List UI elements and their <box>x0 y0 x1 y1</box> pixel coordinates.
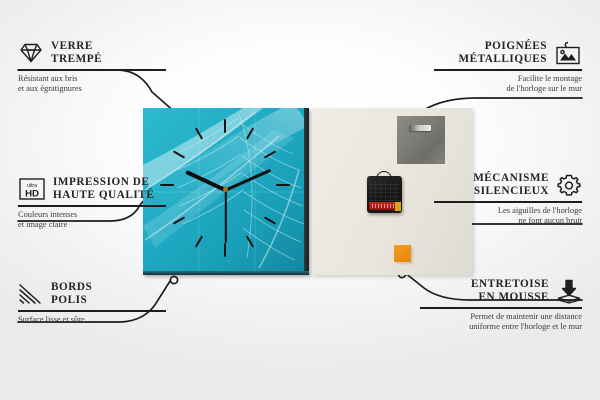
feature-verre-trempe: VERRE TREMPÉ Résistant aux bris et aux é… <box>18 40 166 95</box>
battery-plus-terminal <box>395 202 401 211</box>
clock-product-photo <box>143 108 309 275</box>
clock-bottom-edge <box>143 271 309 275</box>
clock-tick-12 <box>224 119 226 133</box>
feature-title-line2: TREMPÉ <box>51 53 102 66</box>
feature-entretoise-en-mousse: ENTRETOISE EN MOUSSE Permet de maintenir… <box>420 278 582 333</box>
feature-title: ENTRETOISE <box>471 278 549 291</box>
picture-hanger-icon <box>554 41 582 66</box>
feature-desc-line2: et image claire <box>18 220 166 230</box>
feature-rule <box>18 205 166 207</box>
feature-bords-polis: BORDS POLIS Surface lisse et sûre <box>18 281 166 325</box>
feature-desc-line2: et aux égratignures <box>18 84 166 94</box>
feature-title: IMPRESSION DE <box>53 176 154 189</box>
arrow-down-pad-icon <box>556 279 582 304</box>
clock-second-hand <box>225 190 227 243</box>
feature-title: BORDS <box>51 281 92 294</box>
feature-rule <box>434 201 582 203</box>
feature-title: POIGNÉES <box>458 40 547 53</box>
feature-desc-line1: Résistant aux bris <box>18 74 166 84</box>
feature-desc-line1: Les aiguilles de l'horloge <box>434 206 582 216</box>
ultra-hd-icon-main-text: HD <box>25 189 39 200</box>
polished-edge-icon <box>18 282 44 306</box>
feature-title: MÉCANISME <box>473 172 549 185</box>
feature-title-line2: POLIS <box>51 294 92 307</box>
feature-desc-line2: de l'horloge sur le mur <box>434 84 582 94</box>
feature-rule <box>434 69 582 71</box>
silent-clock-mechanism <box>367 176 402 213</box>
foam-spacer <box>394 245 411 262</box>
mechanism-body-texture <box>370 181 399 201</box>
feature-desc-line1: Facilite le montage <box>434 74 582 84</box>
feature-poignees-metalliques: POIGNÉES MÉTALLIQUES Facilite le montage… <box>434 40 582 95</box>
clock-center-pin <box>223 187 228 192</box>
feature-rule <box>18 69 166 71</box>
feature-desc-line2: ne font aucun bruit <box>434 216 582 226</box>
endpoint-bords-polis <box>170 276 177 283</box>
feature-rule <box>18 310 166 312</box>
feature-impression-haute-qualite: ultra HD IMPRESSION DE HAUTE QUALITÉ Cou… <box>18 176 166 231</box>
metallic-hanger-plate <box>397 116 445 164</box>
feature-desc-line1: Permet de maintenir une distance <box>420 312 582 322</box>
diamond-icon <box>18 41 44 65</box>
mechanism-hang-loop <box>376 171 392 179</box>
gear-icon <box>556 173 582 198</box>
clock-tick-3 <box>276 184 290 186</box>
mechanism-battery <box>369 202 397 210</box>
feature-title-line2: EN MOUSSE <box>471 291 549 304</box>
ultra-hd-icon: ultra HD <box>18 176 46 202</box>
feature-rule <box>420 307 582 309</box>
feature-desc-line1: Surface lisse et sûre <box>18 315 166 325</box>
infographic-stage: VERRE TREMPÉ Résistant aux bris et aux é… <box>0 0 600 400</box>
clock-right-edge <box>304 108 309 275</box>
feature-title: VERRE <box>51 40 102 53</box>
feature-title-line2: MÉTALLIQUES <box>458 53 547 66</box>
feature-title-line2: SILENCIEUX <box>473 185 549 198</box>
feature-desc-line1: Couleurs intenses <box>18 210 166 220</box>
clock-tick-6 <box>224 243 226 257</box>
feature-desc-line2: uniforme entre l'horloge et le mur <box>420 322 582 332</box>
hanger-slot <box>409 125 431 131</box>
battery-label <box>372 204 394 208</box>
feature-mecanisme-silencieux: MÉCANISME SILENCIEUX Les aiguilles de l'… <box>434 172 582 227</box>
feature-title-line2: HAUTE QUALITÉ <box>53 189 154 202</box>
